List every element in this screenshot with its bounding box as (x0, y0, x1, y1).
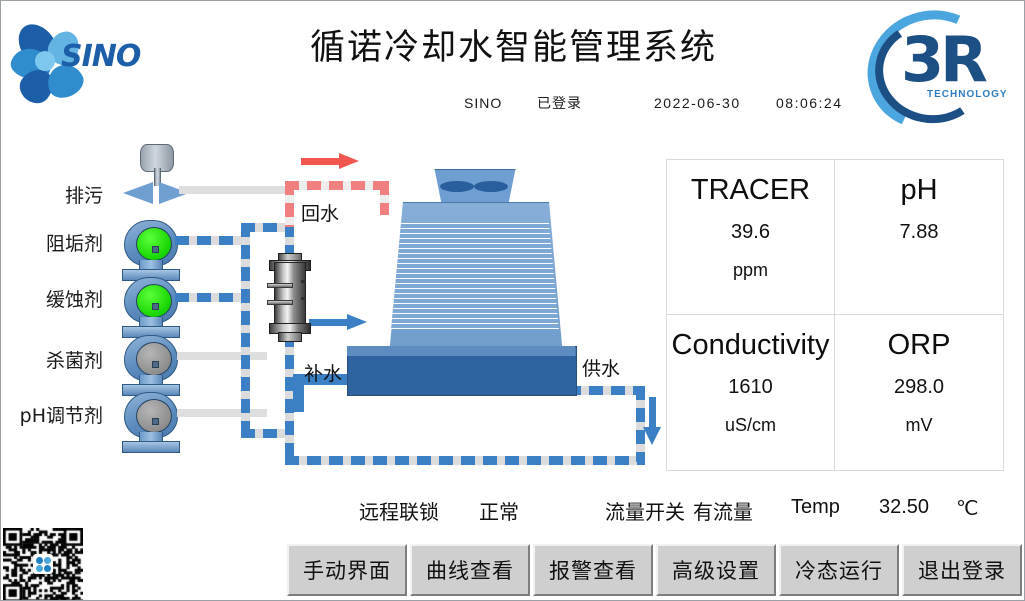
login-status: 已登录 (537, 93, 582, 113)
pipe-loop-left-riser (241, 223, 250, 438)
label-blowdown: 排污 (27, 181, 103, 208)
measurement-name: ORP (888, 329, 951, 362)
temperature-unit: ℃ (956, 496, 978, 521)
arrow-shaft (649, 397, 656, 429)
measurement-value: 7.88 (900, 221, 939, 244)
analyzer-probe-icon (267, 300, 293, 305)
arrow-head (643, 427, 661, 445)
label-ph-adjuster: pH调节剂 (15, 401, 103, 428)
pipe-biocide-inactive (177, 352, 267, 360)
advanced-settings-button[interactable]: 高级设置 (656, 544, 776, 596)
application-window: SINO 循诺冷却水智能管理系统 SINO 已登录 2022-06-30 08:… (0, 0, 1025, 601)
measurement-tracer[interactable]: TRACER 39.6 ppm (667, 160, 835, 315)
label-makeup-water: 补水 (304, 359, 342, 386)
measurement-unit: uS/cm (725, 415, 776, 436)
flow-switch-value: 有流量 (693, 496, 753, 525)
pump-status-indicator (136, 399, 172, 433)
system-time: 08:06:24 (776, 95, 843, 111)
arrow-shaft (301, 158, 341, 165)
system-date: 2022-06-30 (654, 95, 741, 111)
pipe-blowdown (179, 186, 289, 194)
cold-start-button[interactable]: 冷态运行 (779, 544, 899, 596)
3r-technology-logo: 3R TECHNOLOGY (861, 5, 1021, 117)
measurement-name: TRACER (691, 174, 810, 207)
pump-base-icon (122, 441, 180, 453)
tower-fill-media-icon (391, 223, 559, 329)
remote-interlock-label: 远程联锁 (359, 496, 439, 525)
remote-interlock-value: 正常 (479, 496, 519, 525)
arrow-head (339, 153, 359, 169)
cooling-tower-graphic (341, 169, 591, 419)
pump-center-dot-icon (152, 246, 159, 253)
pump-corrosion-inhibitor[interactable] (120, 277, 182, 339)
pump-center-dot-icon (152, 303, 159, 310)
tower-fan-assembly (431, 169, 517, 204)
manual-interface-button[interactable]: 手动界面 (287, 544, 407, 596)
temperature-label: Temp (791, 496, 840, 519)
water-analyzer-icon[interactable] (267, 253, 313, 343)
measurement-ph[interactable]: pH 7.88 (835, 160, 1003, 315)
pipe-loop-top-link (241, 223, 291, 232)
fan-blade-icon (440, 181, 474, 192)
pump-status-indicator (136, 342, 172, 376)
pipe-corrosion-inhibitor-active (175, 293, 247, 302)
label-corrosion-inhibitor: 缓蚀剂 (27, 285, 103, 312)
pipe-bottom-loop (285, 456, 645, 465)
header-bar: SINO 循诺冷却水智能管理系统 SINO 已登录 2022-06-30 08:… (1, 1, 1025, 126)
valve-body-left-icon (123, 182, 153, 204)
label-antiscalant: 阻垢剂 (27, 229, 103, 256)
qr-logo-petal (44, 557, 51, 564)
arrow-return-flow (301, 156, 359, 166)
pump-ph-adjuster[interactable] (120, 392, 182, 454)
pump-biocide[interactable] (120, 335, 182, 397)
3r-wordmark: 3R (901, 23, 984, 96)
analyzer-port-icon (301, 297, 306, 300)
analyzer-bottom-cap-icon (278, 332, 302, 342)
pump-status-indicator (136, 227, 172, 261)
qr-code[interactable] (3, 528, 83, 601)
measurement-panel: TRACER 39.6 ppm pH 7.88 Conductivity 161… (666, 159, 1004, 471)
measurement-value: 298.0 (894, 376, 944, 399)
blowdown-valve-icon[interactable] (121, 144, 191, 204)
label-biocide: 杀菌剂 (27, 346, 103, 373)
curve-view-button[interactable]: 曲线查看 (410, 544, 530, 596)
analyzer-probe-icon (267, 283, 293, 288)
flow-switch-label: 流量开关 (605, 496, 685, 525)
logout-button[interactable]: 退出登录 (902, 544, 1022, 596)
measurement-unit: mV (906, 415, 933, 436)
pipe-makeup-vertical (293, 374, 304, 412)
measurement-value: 39.6 (731, 221, 770, 244)
temperature-value: 32.50 (879, 496, 929, 519)
measurement-unit: ppm (733, 260, 768, 281)
qr-center-logo (33, 554, 53, 574)
analyzer-body-icon (274, 262, 306, 330)
fan-blade-icon (474, 181, 508, 192)
3r-tagline: TECHNOLOGY (927, 89, 1008, 100)
label-return-water: 回水 (301, 199, 339, 226)
measurement-name: pH (900, 174, 937, 207)
logged-user: SINO (464, 95, 502, 111)
pump-center-dot-icon (152, 361, 159, 368)
qr-logo-petal (36, 565, 43, 572)
alarm-view-button[interactable]: 报警查看 (533, 544, 653, 596)
measurement-conductivity[interactable]: Conductivity 1610 uS/cm (667, 315, 835, 470)
status-row: 远程联锁 正常 流量开关 有流量 Temp 32.50 ℃ (1, 496, 1025, 528)
pipe-antiscalant-active (175, 236, 247, 245)
label-supply-water: 供水 (582, 354, 620, 381)
measurement-orp[interactable]: ORP 298.0 mV (835, 315, 1003, 470)
tower-basin-lip-icon (347, 346, 575, 356)
pump-center-dot-icon (152, 418, 159, 425)
pipe-ph-inactive (177, 409, 267, 417)
analyzer-port-icon (301, 280, 306, 283)
arrow-supply-flow (647, 397, 657, 445)
measurement-value: 1610 (728, 376, 773, 399)
qr-logo-petal (44, 565, 51, 572)
pipe-loop-bottom-link (241, 429, 289, 438)
bottom-toolbar: 手动界面 曲线查看 报警查看 高级设置 冷态运行 退出登录 (287, 544, 1022, 596)
pump-status-indicator (136, 284, 172, 318)
pipe-supply-riser (636, 386, 645, 462)
measurement-name: Conductivity (672, 329, 830, 362)
pump-antiscalant[interactable] (120, 220, 182, 282)
qr-logo-petal (36, 557, 43, 564)
